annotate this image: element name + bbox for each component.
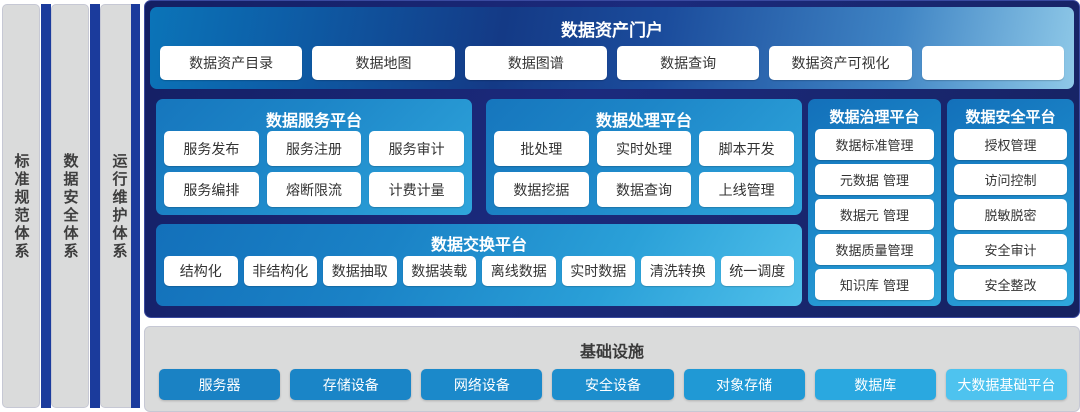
data-service-platform-items: 服务发布 服务注册 服务审计 服务编排 熔断限流 计费计量: [164, 131, 464, 207]
pillar-standards[interactable]: 标准规范体系: [2, 4, 40, 408]
exchange-item-realtime-data[interactable]: 实时数据: [562, 256, 636, 286]
service-item-publish[interactable]: 服务发布: [164, 131, 259, 166]
data-governance-platform-panel: 数据治理平台 数据标准管理 元数据 管理 数据元 管理 数据质量管理 知识库 管…: [808, 99, 941, 306]
portal-item-catalog[interactable]: 数据资产目录: [160, 46, 302, 80]
data-security-platform-items: 授权管理 访问控制 脱敏脱密 安全审计 安全整改: [954, 129, 1067, 300]
infra-item-object-storage[interactable]: 对象存储: [684, 369, 805, 400]
infrastructure-panel: 基础设施 服务器 存储设备 网络设备 安全设备 对象存储 数据库 大数据基础平台: [144, 326, 1080, 412]
service-item-register[interactable]: 服务注册: [267, 131, 362, 166]
data-processing-platform-panel: 数据处理平台 批处理 实时处理 脚本开发 数据挖据 数据查询 上线管理: [486, 99, 802, 215]
service-item-circuit-break[interactable]: 熔断限流: [267, 172, 362, 207]
govern-item-metadata[interactable]: 元数据 管理: [815, 164, 934, 195]
portal-item-graph[interactable]: 数据图谱: [465, 46, 607, 80]
data-exchange-platform-title: 数据交换平台: [156, 231, 802, 255]
exchange-item-structured[interactable]: 结构化: [164, 256, 238, 286]
data-governance-platform-items: 数据标准管理 元数据 管理 数据元 管理 数据质量管理 知识库 管理: [815, 129, 934, 300]
data-processing-platform-title: 数据处理平台: [486, 107, 802, 131]
process-item-query[interactable]: 数据查询: [597, 172, 692, 207]
secure-item-security-rectification[interactable]: 安全整改: [954, 269, 1067, 300]
portal-item-map[interactable]: 数据地图: [312, 46, 454, 80]
govern-item-data-quality[interactable]: 数据质量管理: [815, 234, 934, 265]
portal-item-visualize[interactable]: 数据资产可视化: [769, 46, 911, 80]
data-asset-portal-panel: 数据资产门户 数据资产目录 数据地图 数据图谱 数据查询 数据资产可视化: [150, 7, 1074, 89]
support-systems-pillars: 标准规范体系 数据安全体系 运行维护体系: [0, 4, 140, 408]
service-item-metering[interactable]: 计费计量: [369, 172, 464, 207]
secure-item-access-control[interactable]: 访问控制: [954, 164, 1067, 195]
data-asset-portal-title: 数据资产门户: [150, 16, 1074, 41]
infra-item-server[interactable]: 服务器: [159, 369, 280, 400]
pillar-divider-3: [131, 4, 140, 408]
govern-item-data-standard[interactable]: 数据标准管理: [815, 129, 934, 160]
exchange-item-unstructured[interactable]: 非结构化: [244, 256, 318, 286]
secure-item-security-audit[interactable]: 安全审计: [954, 234, 1067, 265]
infrastructure-title: 基础设施: [145, 338, 1079, 362]
infra-item-bigdata-platform[interactable]: 大数据基础平台: [946, 369, 1067, 400]
portal-item-query[interactable]: 数据查询: [617, 46, 759, 80]
pillar-data-security-label: 数据安全体系: [52, 5, 90, 409]
data-security-platform-panel: 数据安全平台 授权管理 访问控制 脱敏脱密 安全审计 安全整改: [947, 99, 1074, 306]
process-item-batch[interactable]: 批处理: [494, 131, 589, 166]
exchange-item-offline-data[interactable]: 离线数据: [482, 256, 556, 286]
process-item-script-dev[interactable]: 脚本开发: [699, 131, 794, 166]
exchange-item-cleansing[interactable]: 清洗转换: [641, 256, 715, 286]
govern-item-data-element[interactable]: 数据元 管理: [815, 199, 934, 230]
pillar-data-security[interactable]: 数据安全体系: [51, 4, 89, 408]
service-item-audit[interactable]: 服务审计: [369, 131, 464, 166]
data-service-platform-title: 数据服务平台: [156, 107, 472, 131]
data-service-platform-panel: 数据服务平台 服务发布 服务注册 服务审计 服务编排 熔断限流 计费计量: [156, 99, 472, 215]
infrastructure-items: 服务器 存储设备 网络设备 安全设备 对象存储 数据库 大数据基础平台: [159, 369, 1067, 400]
data-processing-platform-items: 批处理 实时处理 脚本开发 数据挖据 数据查询 上线管理: [494, 131, 794, 207]
pillar-divider-2: [90, 4, 100, 408]
infra-item-database[interactable]: 数据库: [815, 369, 936, 400]
exchange-item-extract[interactable]: 数据抽取: [323, 256, 397, 286]
process-item-realtime[interactable]: 实时处理: [597, 131, 692, 166]
data-exchange-platform-panel: 数据交换平台 结构化 非结构化 数据抽取 数据装载 离线数据 实时数据 清洗转换…: [156, 224, 802, 306]
data-exchange-platform-items: 结构化 非结构化 数据抽取 数据装载 离线数据 实时数据 清洗转换 统一调度: [164, 256, 794, 296]
exchange-item-scheduling[interactable]: 统一调度: [721, 256, 795, 286]
service-item-orchestrate[interactable]: 服务编排: [164, 172, 259, 207]
infra-item-security-device[interactable]: 安全设备: [552, 369, 673, 400]
secure-item-authorization[interactable]: 授权管理: [954, 129, 1067, 160]
secure-item-desensitization[interactable]: 脱敏脱密: [954, 199, 1067, 230]
process-item-release-mgmt[interactable]: 上线管理: [699, 172, 794, 207]
pillar-divider-1: [41, 4, 51, 408]
pillar-standards-label: 标准规范体系: [3, 5, 41, 409]
process-item-mining[interactable]: 数据挖据: [494, 172, 589, 207]
data-governance-platform-title: 数据治理平台: [808, 106, 941, 127]
data-security-platform-title: 数据安全平台: [947, 106, 1074, 127]
infra-item-network[interactable]: 网络设备: [421, 369, 542, 400]
portal-item-empty[interactable]: [922, 46, 1064, 80]
govern-item-knowledge-base[interactable]: 知识库 管理: [815, 269, 934, 300]
infra-item-storage[interactable]: 存储设备: [290, 369, 411, 400]
data-asset-portal-items: 数据资产目录 数据地图 数据图谱 数据查询 数据资产可视化: [160, 46, 1064, 80]
architecture-diagram: 标准规范体系 数据安全体系 运行维护体系 数据资产门户 数据资产目录 数据地图 …: [0, 0, 1080, 412]
exchange-item-load[interactable]: 数据装载: [403, 256, 477, 286]
